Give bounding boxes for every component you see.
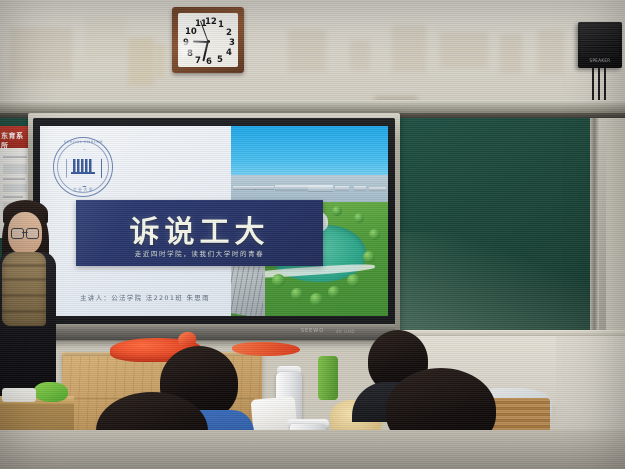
green-thermos [318, 356, 338, 400]
speaker-grill [581, 25, 619, 58]
clock-numeral-2: 2 [226, 29, 232, 38]
slide-presenter-line: 主讲人：公法学院 法2201班 朱思雨 [80, 292, 210, 302]
emblem-bottom-text: 工业大学 [53, 187, 113, 193]
display-side-mark: 4K UHD [336, 329, 355, 334]
notebook [2, 388, 36, 402]
clock-numeral-7: 7 [195, 57, 201, 66]
chalkboard-divider [590, 112, 599, 336]
floor [0, 430, 625, 469]
clock-numeral-5: 5 [217, 56, 223, 65]
emblem-top-text: SCHOOL EMBLEM [53, 140, 113, 144]
presenter-scarf [2, 252, 46, 326]
orange-bag [232, 342, 300, 356]
speaker-cable-1 [592, 68, 594, 104]
display-screen[interactable]: SCHOOL EMBLEM 工业大学 主讲人：公法学院 法2201班 朱思雨 [40, 126, 388, 316]
classroom-photo: 12 1 2 3 4 5 6 7 8 9 10 11 SPEAKER [0, 0, 625, 469]
clock-numeral-3: 3 [229, 39, 235, 48]
poster-headline: 东育系所 [1, 131, 30, 151]
clock-face: 12 1 2 3 4 5 6 7 8 9 10 11 [178, 13, 238, 67]
slide-subtitle: 走近四时学院，读我们大学时的青春 [76, 248, 323, 258]
clock-numeral-1: 1 [218, 21, 224, 30]
chalkboard-right [398, 116, 598, 331]
glasses-icon [11, 228, 39, 237]
slide-title-banner: 诉说工大 走近四时学院，读我们大学时的青春 [76, 200, 323, 266]
green-bag [34, 382, 68, 402]
presentation-slide: SCHOOL EMBLEM 工业大学 主讲人：公法学院 法2201班 朱思雨 [40, 126, 388, 316]
clock-numeral-6: 6 [206, 58, 212, 67]
clock-numeral-10: 10 [185, 28, 197, 37]
clock-numeral-4: 4 [226, 49, 232, 58]
speaker-cable-3 [604, 68, 606, 101]
speaker-label: SPEAKER [590, 58, 611, 63]
wall-clock: 12 1 2 3 4 5 6 7 8 9 10 11 [172, 7, 244, 73]
university-emblem-icon: SCHOOL EMBLEM 工业大学 [53, 137, 113, 197]
wall-speaker: SPEAKER [578, 22, 622, 68]
slide-title: 诉说工大 [76, 207, 323, 251]
display-brand-label: SEEWO [301, 328, 324, 334]
poster-header-band: 东育系所 [0, 126, 30, 148]
